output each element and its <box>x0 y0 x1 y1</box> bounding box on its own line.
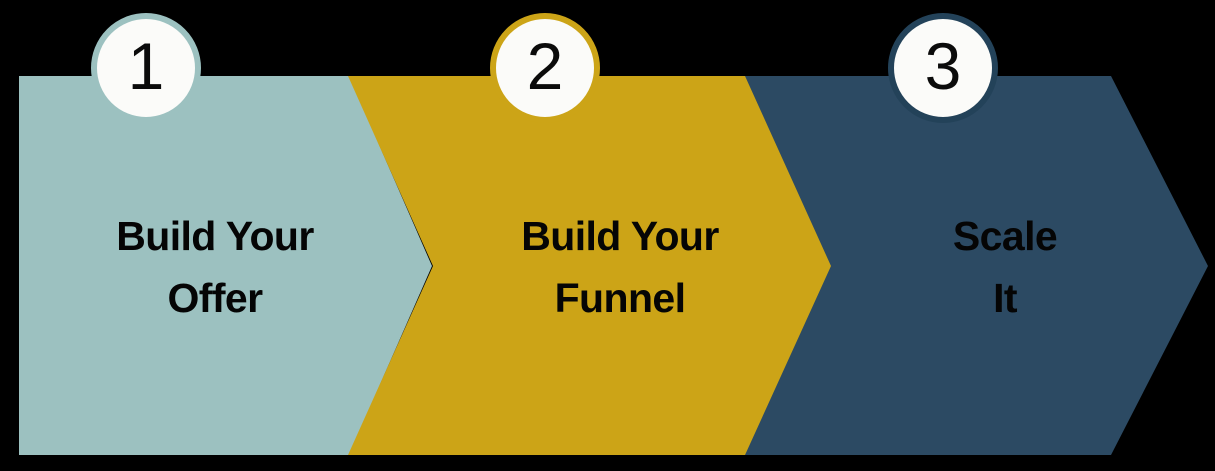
process-diagram: Build Your Offer 1 Build Your Funnel 2 S… <box>0 0 1215 471</box>
step-3-number-badge[interactable]: 3 <box>888 13 998 123</box>
step-3-label: Scale It <box>840 206 1170 329</box>
step-3-number: 3 <box>925 33 962 99</box>
step-3-label-line-1: Scale <box>840 206 1170 268</box>
step-3-label-line-2: It <box>840 268 1170 330</box>
process-step-3: Scale It 3 <box>0 0 1215 471</box>
